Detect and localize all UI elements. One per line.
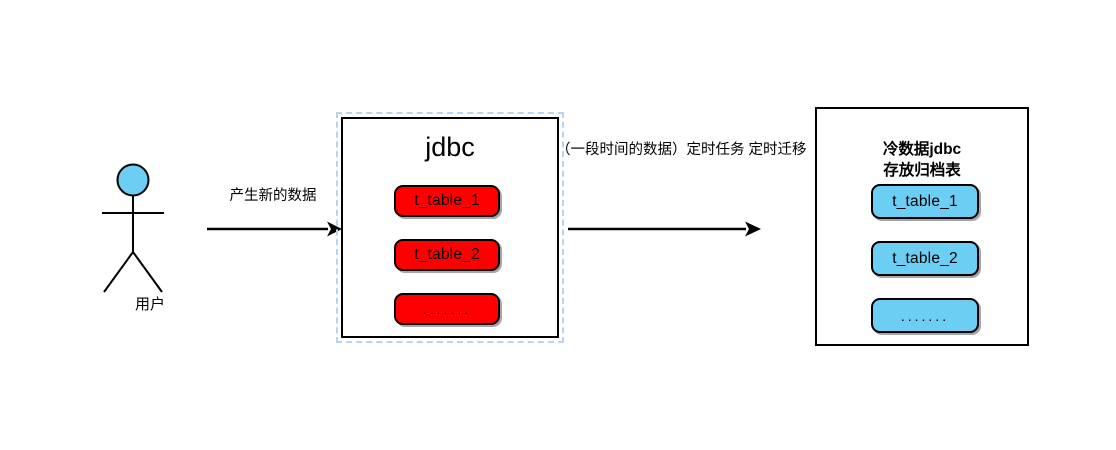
actor-label: 用户	[95, 296, 205, 314]
cold-table-chip-2[interactable]: t_table_2	[871, 241, 979, 276]
actor-leg-left-line	[104, 252, 133, 292]
actor-head-icon	[118, 165, 149, 196]
cold-jdbc-container[interactable]: 冷数据jdbc 存放归档表 t_table_1 t_table_2 ......…	[815, 107, 1029, 346]
actor-leg-right-line	[133, 252, 162, 292]
cold-table-chip-3[interactable]: .......	[871, 298, 979, 333]
cold-table-chip-1[interactable]: t_table_1	[871, 184, 979, 219]
arrow-produce-new-data	[205, 218, 345, 240]
jdbc-container[interactable]: jdbc t_table_1 t_table_2 .......	[341, 117, 559, 338]
arrow-scheduled-migration-label: （一段时间的数据）定时任务 定时迁移 （迁移过程中删除旧数据）	[556, 140, 806, 160]
diagram-canvas: 用户 产生新的数据 jdbc t_table_1 t_table_2 .....…	[0, 0, 1116, 450]
cold-jdbc-container-title: 冷数据jdbc 存放归档表	[817, 139, 1027, 181]
hot-table-chip-3[interactable]: .......	[394, 293, 500, 325]
hot-table-chip-2[interactable]: t_table_2	[394, 239, 500, 271]
jdbc-container-title: jdbc	[343, 131, 557, 163]
arrow-scheduled-migration	[566, 218, 766, 240]
arrow-produce-new-data-label: 产生新的数据	[188, 186, 358, 206]
hot-table-chip-1[interactable]: t_table_1	[394, 185, 500, 217]
